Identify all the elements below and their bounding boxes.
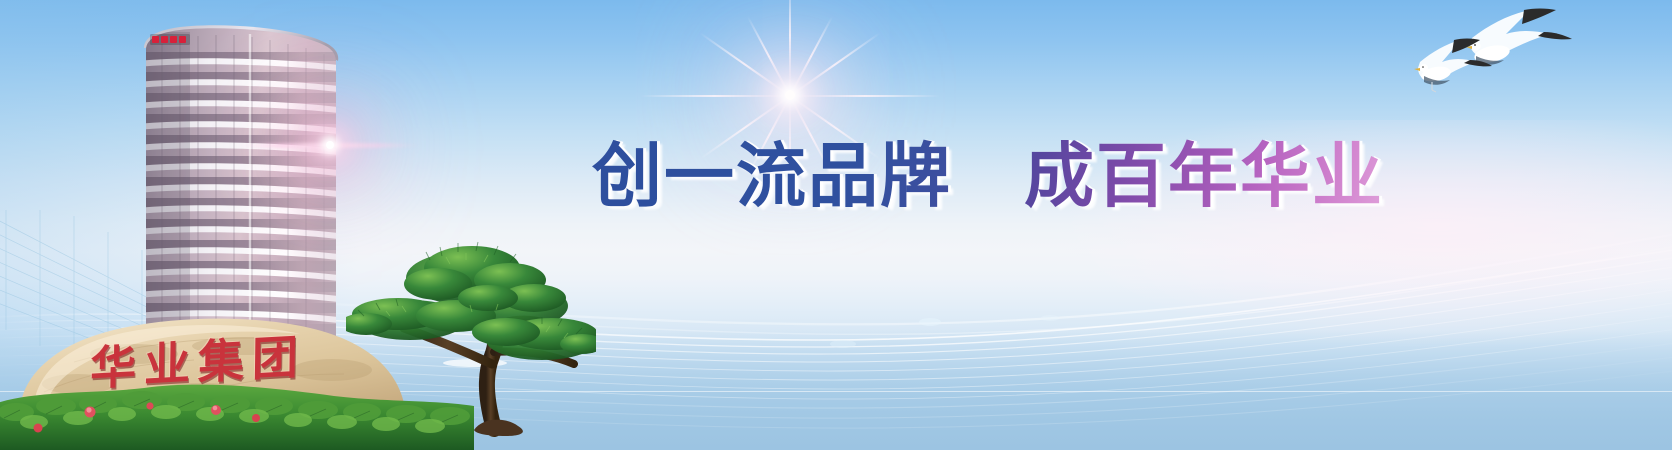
slogan-block: 创一流品牌 成百年华业 创一流品牌 成百年华业 <box>592 128 1352 224</box>
seagulls-group <box>1406 8 1576 118</box>
tower-rooftop-sign <box>150 34 190 45</box>
office-tower-image <box>128 14 368 344</box>
seagull-icon <box>1466 9 1572 66</box>
hero-banner: 华业集团 <box>0 0 1672 450</box>
slogan-text: 创一流品牌 成百年华业 <box>592 135 1384 217</box>
hedge-groundcover <box>0 384 474 450</box>
building-lens-flare-icon <box>326 141 334 149</box>
sun-flare-icon <box>785 90 795 100</box>
